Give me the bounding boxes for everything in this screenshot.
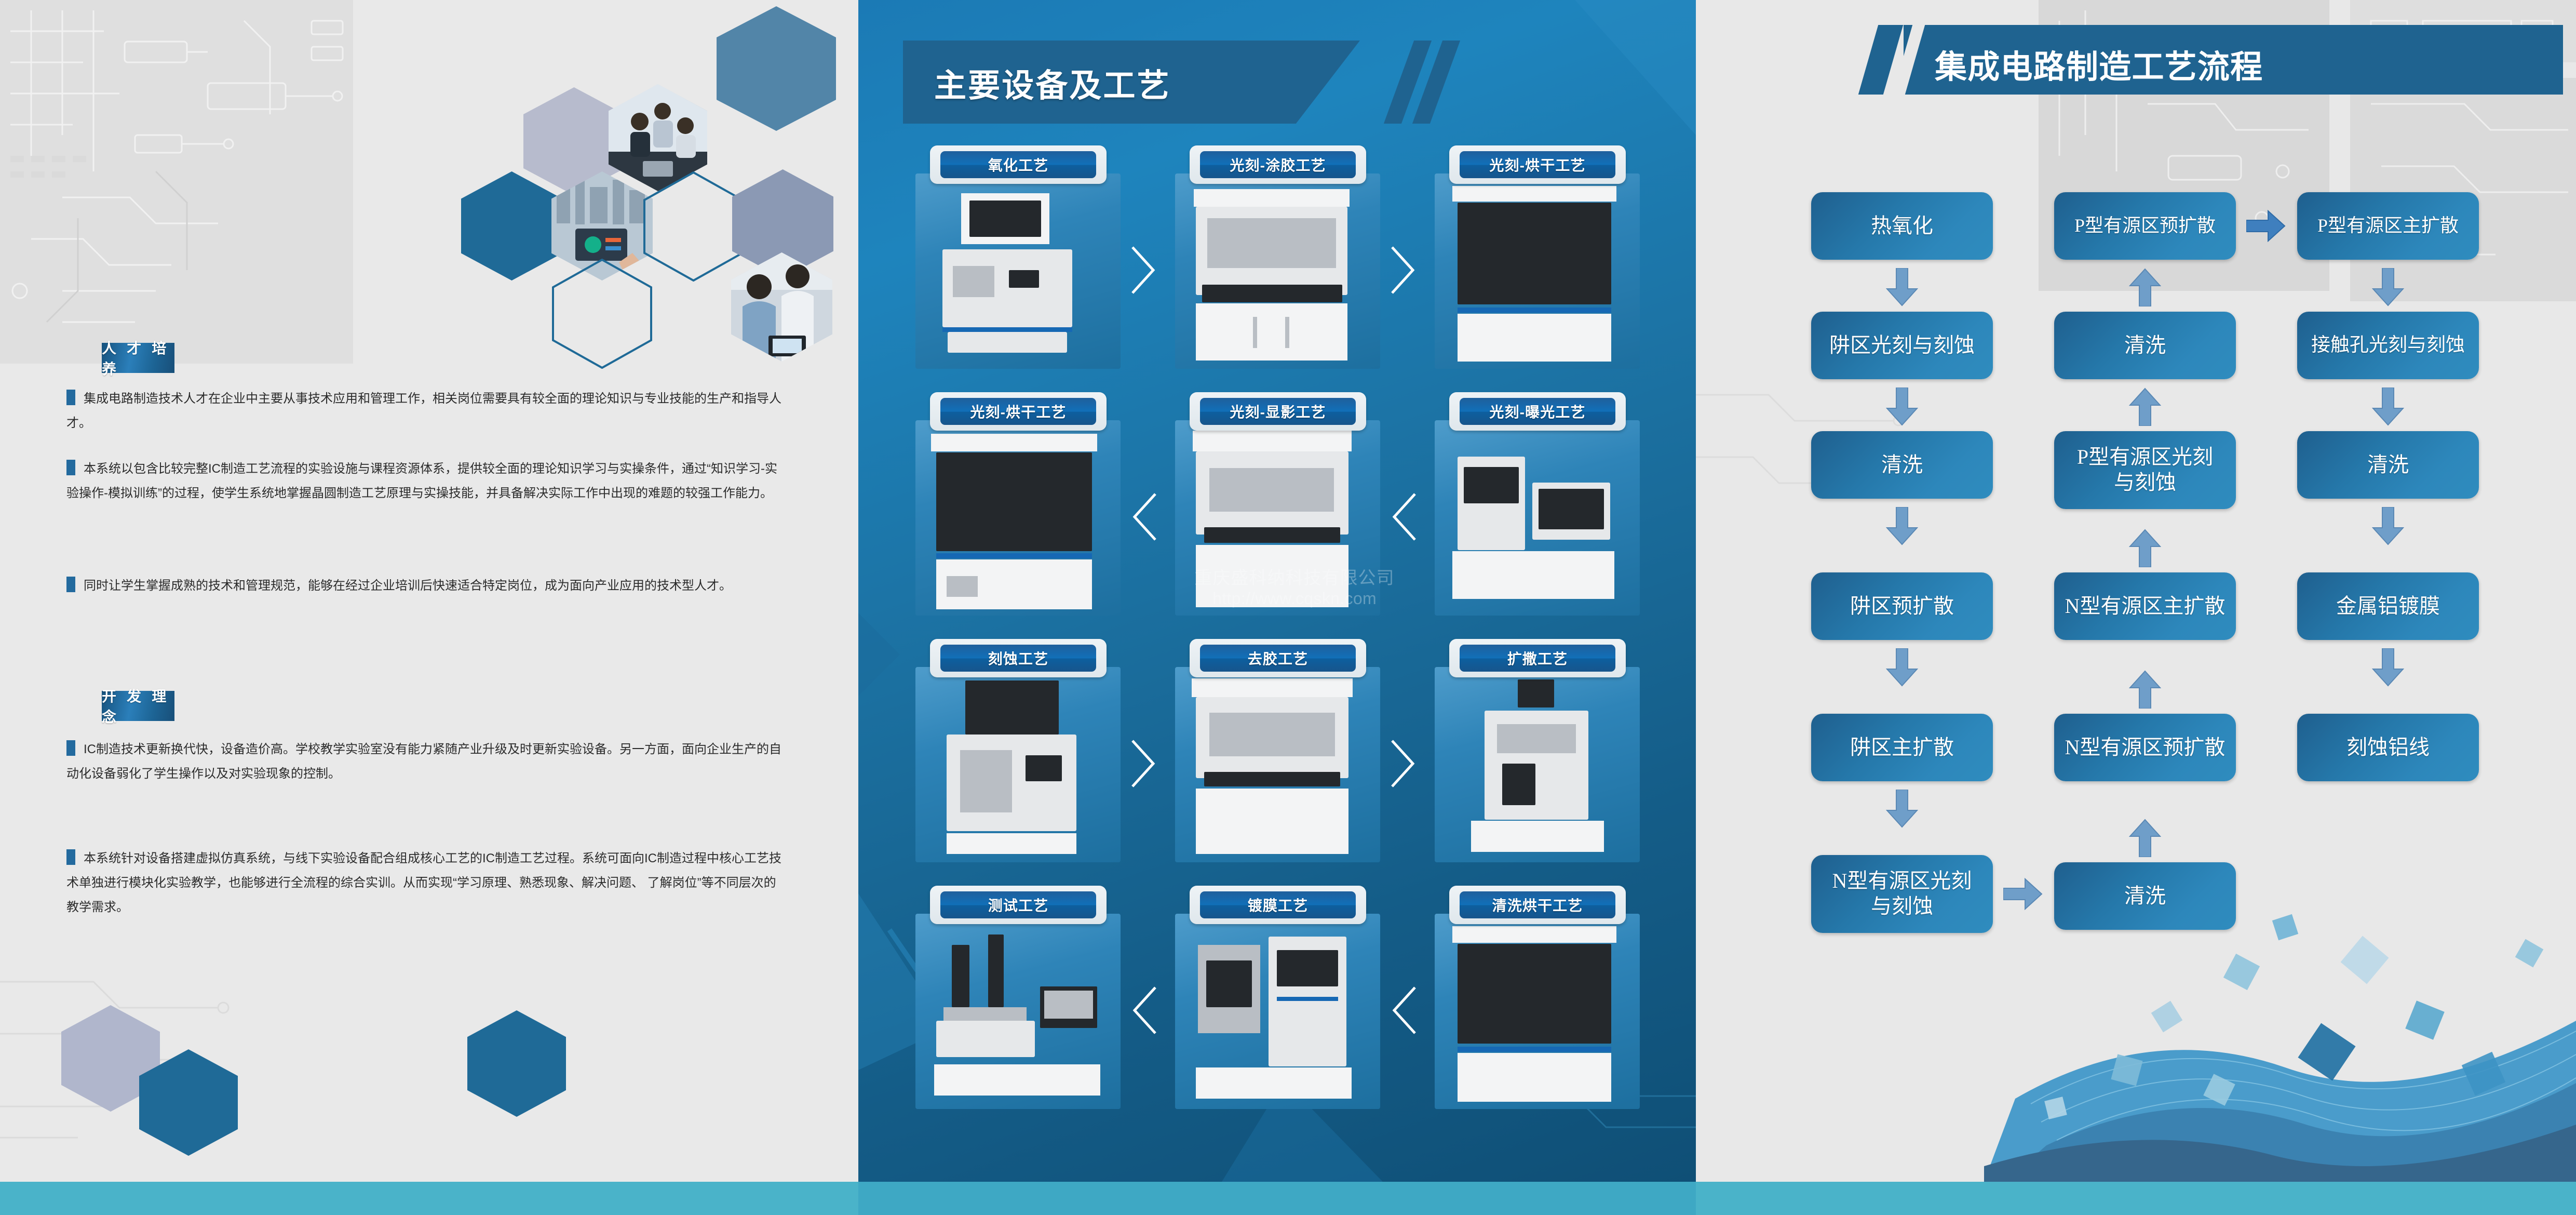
hexagon-outline-icon bbox=[551, 259, 653, 369]
equipment-label-text: 刻蚀工艺 bbox=[940, 645, 1096, 672]
chevron-left-icon bbox=[1389, 984, 1418, 1036]
bullet-icon bbox=[66, 577, 75, 592]
flow-step[interactable]: 热氧化 bbox=[1811, 192, 1993, 260]
arrow-down-icon bbox=[2372, 507, 2404, 545]
equipment-card[interactable]: 测试工艺 bbox=[915, 886, 1121, 1109]
paragraph: 本系统针对设备搭建虚拟仿真系统，与线下实验设备配合组成核心工艺的IC制造工艺过程… bbox=[66, 847, 788, 919]
flow-step[interactable]: 清洗 bbox=[2297, 431, 2479, 499]
flow-step-label: P型有源区光刻 与刻蚀 bbox=[2077, 445, 2213, 496]
flow-step-label: 金属铝镀膜 bbox=[2336, 594, 2440, 619]
equipment-label-text: 去胶工艺 bbox=[1200, 645, 1356, 672]
equipment-photo bbox=[1435, 914, 1640, 1109]
chevron-right-icon bbox=[1129, 738, 1158, 790]
bullet-icon bbox=[66, 740, 75, 756]
flow-step[interactable]: 刻蚀铝线 bbox=[2297, 714, 2479, 781]
paragraph-text: IC制造技术更新换代快，设备造价高。学校教学实验室没有能力紧随产业升级及时更新实… bbox=[66, 742, 781, 781]
equipment-label-text: 清洗烘干工艺 bbox=[1460, 891, 1615, 918]
hexagon-outline-icon bbox=[643, 171, 744, 282]
paragraph: 本系统以包含比较完整IC制造工艺流程的实验设施与课程资源体系，提供较全面的理论知… bbox=[66, 457, 788, 506]
equipment-row: 光刻-烘干工艺 光刻-显影工艺 bbox=[915, 392, 1642, 639]
photo-hexagon-students bbox=[731, 252, 832, 362]
arrow-right-icon bbox=[2246, 210, 2286, 242]
chevron-left-icon bbox=[1389, 491, 1418, 543]
flow-step[interactable]: 清洗 bbox=[1811, 431, 1993, 499]
equipment-card[interactable]: 刻蚀工艺 bbox=[915, 639, 1121, 862]
bottom-strip bbox=[0, 1182, 2576, 1215]
arrow-down-icon bbox=[1886, 507, 1918, 545]
equipment-label: 光刻-烘干工艺 bbox=[930, 392, 1107, 431]
equipment-grid: 氧化工艺 bbox=[915, 145, 1642, 1132]
flow-step[interactable]: N型有源区光刻 与刻蚀 bbox=[1811, 855, 1993, 933]
flow-step-label: P型有源区预扩散 bbox=[2074, 215, 2216, 237]
arrow-down-icon bbox=[1886, 648, 1918, 687]
flow-step[interactable]: 阱区光刻与刻蚀 bbox=[1811, 312, 1993, 379]
section-tag-talent: 人 才 培 养 bbox=[102, 343, 174, 373]
equipment-label-text: 光刻-烘干工艺 bbox=[1460, 151, 1615, 178]
equipment-card[interactable]: 光刻-曝光工艺 bbox=[1435, 392, 1640, 616]
flow-step-label: 阱区主扩散 bbox=[1850, 735, 1954, 760]
flow-step-label: 热氧化 bbox=[1871, 213, 1933, 239]
equipment-card[interactable]: 去胶工艺 bbox=[1175, 639, 1380, 862]
equipment-label: 去胶工艺 bbox=[1190, 639, 1366, 677]
flow-step-label: 清洗 bbox=[2367, 452, 2409, 478]
arrow-up-icon bbox=[2129, 529, 2161, 567]
equipment-row: 氧化工艺 bbox=[915, 145, 1642, 392]
bullet-icon bbox=[66, 460, 75, 475]
flow-step[interactable]: P型有源区光刻 与刻蚀 bbox=[2054, 431, 2236, 509]
wave-decoration bbox=[1984, 787, 2576, 1182]
equipment-label-text: 光刻-涂胶工艺 bbox=[1200, 151, 1356, 178]
equipment-label: 清洗烘干工艺 bbox=[1449, 886, 1626, 924]
arrow-down-icon bbox=[1886, 790, 1918, 828]
flow-step-label: N型有源区主扩散 bbox=[2065, 594, 2226, 619]
right-panel: 集成电路制造工艺流程 热氧化 阱区光刻与刻蚀 清洗 bbox=[1696, 0, 2576, 1182]
equipment-label: 扩撒工艺 bbox=[1449, 639, 1626, 677]
equipment-card[interactable]: 镀膜工艺 bbox=[1175, 886, 1380, 1109]
equipment-card[interactable]: 光刻-涂胶工艺 bbox=[1175, 145, 1380, 369]
equipment-photo bbox=[915, 667, 1121, 862]
paragraph: 集成电路制造技术人才在企业中主要从事技术应用和管理工作，相关岗位需要具有较全面的… bbox=[66, 387, 788, 436]
poster-root: 人 才 培 养 集成电路制造技术人才在企业中主要从事技术应用和管理工作，相关岗位… bbox=[0, 0, 2576, 1215]
section-tag-label: 开 发 理 念 bbox=[102, 685, 174, 727]
arrow-down-icon bbox=[2372, 388, 2404, 426]
section-tag-label: 人 才 培 养 bbox=[102, 337, 174, 379]
equipment-photo bbox=[1175, 914, 1380, 1109]
center-panel: 主要设备及工艺 氧化工艺 bbox=[858, 0, 1696, 1182]
flow-step-label: P型有源区主扩散 bbox=[2317, 215, 2459, 237]
equipment-label: 刻蚀工艺 bbox=[930, 639, 1107, 677]
section-tag-concept: 开 发 理 念 bbox=[102, 691, 174, 721]
flow-step[interactable]: 金属铝镀膜 bbox=[2297, 572, 2479, 640]
equipment-label: 氧化工艺 bbox=[930, 145, 1107, 184]
equipment-label: 光刻-烘干工艺 bbox=[1449, 145, 1626, 184]
paragraph-text: 本系统以包含比较完整IC制造工艺流程的实验设施与课程资源体系，提供较全面的理论知… bbox=[66, 462, 777, 500]
arrow-up-icon bbox=[2129, 268, 2161, 306]
equipment-label-text: 镀膜工艺 bbox=[1200, 891, 1356, 918]
chevron-left-icon bbox=[1129, 491, 1158, 543]
equipment-photo bbox=[915, 914, 1121, 1109]
equipment-photo bbox=[1435, 420, 1640, 616]
arrow-down-icon bbox=[1886, 388, 1918, 426]
bullet-icon bbox=[66, 390, 75, 405]
arrow-up-icon bbox=[2129, 388, 2161, 426]
chevron-right-icon bbox=[1389, 244, 1418, 296]
paragraph-text: 集成电路制造技术人才在企业中主要从事技术应用和管理工作，相关岗位需要具有较全面的… bbox=[66, 392, 781, 430]
left-panel: 人 才 培 养 集成电路制造技术人才在企业中主要从事技术应用和管理工作，相关岗位… bbox=[0, 0, 858, 1182]
flow-step[interactable]: N型有源区主扩散 bbox=[2054, 572, 2236, 640]
flow-step-label: N型有源区预扩散 bbox=[2065, 735, 2226, 760]
paragraph: 同时让学生掌握成熟的技术和管理规范，能够在经过企业培训后快速适合特定岗位，成为面… bbox=[66, 574, 788, 598]
arrow-down-icon bbox=[1886, 268, 1918, 306]
chevron-right-icon bbox=[1389, 738, 1418, 790]
equipment-photo bbox=[1175, 173, 1380, 369]
arrow-down-icon bbox=[2372, 268, 2404, 306]
equipment-card[interactable]: 光刻-显影工艺 bbox=[1175, 392, 1380, 616]
equipment-label-text: 光刻-曝光工艺 bbox=[1460, 398, 1615, 425]
flow-step-label: 刻蚀铝线 bbox=[2346, 735, 2430, 760]
flow-step-label: 接触孔光刻与刻蚀 bbox=[2311, 333, 2465, 357]
equipment-photo bbox=[1435, 173, 1640, 369]
center-title: 主要设备及工艺 bbox=[934, 59, 1171, 106]
hexagon-shape bbox=[467, 1010, 566, 1117]
arrow-down-icon bbox=[2372, 648, 2404, 687]
equipment-row: 刻蚀工艺 去胶工艺 bbox=[915, 639, 1642, 886]
equipment-photo bbox=[1175, 667, 1380, 862]
flow-step-label: 阱区光刻与刻蚀 bbox=[1829, 333, 1975, 358]
paragraph-text: 同时让学生掌握成熟的技术和管理规范，能够在经过企业培训后快速适合特定岗位，成为面… bbox=[84, 579, 732, 593]
flow-step-label: N型有源区光刻 与刻蚀 bbox=[1832, 869, 1972, 919]
equipment-label-text: 氧化工艺 bbox=[940, 151, 1096, 178]
equipment-photo bbox=[915, 173, 1121, 369]
equipment-row: 测试工艺 镀膜工艺 bbox=[915, 886, 1642, 1132]
bottom-strip-center bbox=[858, 1182, 1696, 1215]
flow-step[interactable]: 清洗 bbox=[2054, 312, 2236, 379]
equipment-card[interactable]: 氧化工艺 bbox=[915, 145, 1121, 369]
equipment-card[interactable]: 光刻-烘干工艺 bbox=[915, 392, 1121, 616]
equipment-label: 光刻-涂胶工艺 bbox=[1190, 145, 1366, 184]
flow-step[interactable]: N型有源区预扩散 bbox=[2054, 714, 2236, 781]
hexagon-shape bbox=[717, 6, 836, 131]
chevron-right-icon bbox=[1129, 244, 1158, 296]
bullet-icon bbox=[66, 849, 75, 865]
hexagon-collage bbox=[457, 0, 852, 343]
equipment-label: 测试工艺 bbox=[930, 886, 1107, 924]
equipment-label-text: 扩撒工艺 bbox=[1460, 645, 1615, 672]
equipment-label-text: 光刻-烘干工艺 bbox=[940, 398, 1096, 425]
equipment-label-text: 测试工艺 bbox=[940, 891, 1096, 918]
equipment-photo bbox=[1175, 420, 1380, 616]
flow-step-label: 阱区预扩散 bbox=[1850, 594, 1954, 619]
equipment-photo bbox=[1435, 667, 1640, 862]
arrow-up-icon bbox=[2129, 670, 2161, 709]
flow-step[interactable]: 阱区预扩散 bbox=[1811, 572, 1993, 640]
flow-step-label: 清洗 bbox=[1881, 452, 1923, 478]
paragraph-text: 本系统针对设备搭建虚拟仿真系统，与线下实验设备配合组成核心工艺的IC制造工艺过程… bbox=[66, 851, 781, 914]
equipment-label: 镀膜工艺 bbox=[1190, 886, 1366, 924]
equipment-label-text: 光刻-显影工艺 bbox=[1200, 398, 1356, 425]
equipment-label: 光刻-曝光工艺 bbox=[1449, 392, 1626, 431]
paragraph: IC制造技术更新换代快，设备造价高。学校教学实验室没有能力紧随产业升级及时更新实… bbox=[66, 738, 788, 786]
flow-step[interactable]: 阱区主扩散 bbox=[1811, 714, 1993, 781]
flow-step[interactable]: P型有源区预扩散 bbox=[2054, 192, 2236, 260]
flow-step[interactable]: 接触孔光刻与刻蚀 bbox=[2297, 312, 2479, 379]
equipment-card[interactable]: 扩撒工艺 bbox=[1435, 639, 1640, 862]
center-header: 主要设备及工艺 bbox=[903, 35, 1434, 127]
equipment-card[interactable]: 光刻-烘干工艺 bbox=[1435, 145, 1640, 369]
flow-step[interactable]: P型有源区主扩散 bbox=[2297, 192, 2479, 260]
hexagon-shape bbox=[461, 171, 562, 281]
flow-step-label: 清洗 bbox=[2124, 333, 2166, 358]
equipment-card[interactable]: 清洗烘干工艺 bbox=[1435, 886, 1640, 1109]
equipment-label: 光刻-显影工艺 bbox=[1190, 392, 1366, 431]
chevron-left-icon bbox=[1129, 984, 1158, 1036]
circuit-pattern-icon bbox=[0, 0, 498, 395]
equipment-photo bbox=[915, 420, 1121, 616]
